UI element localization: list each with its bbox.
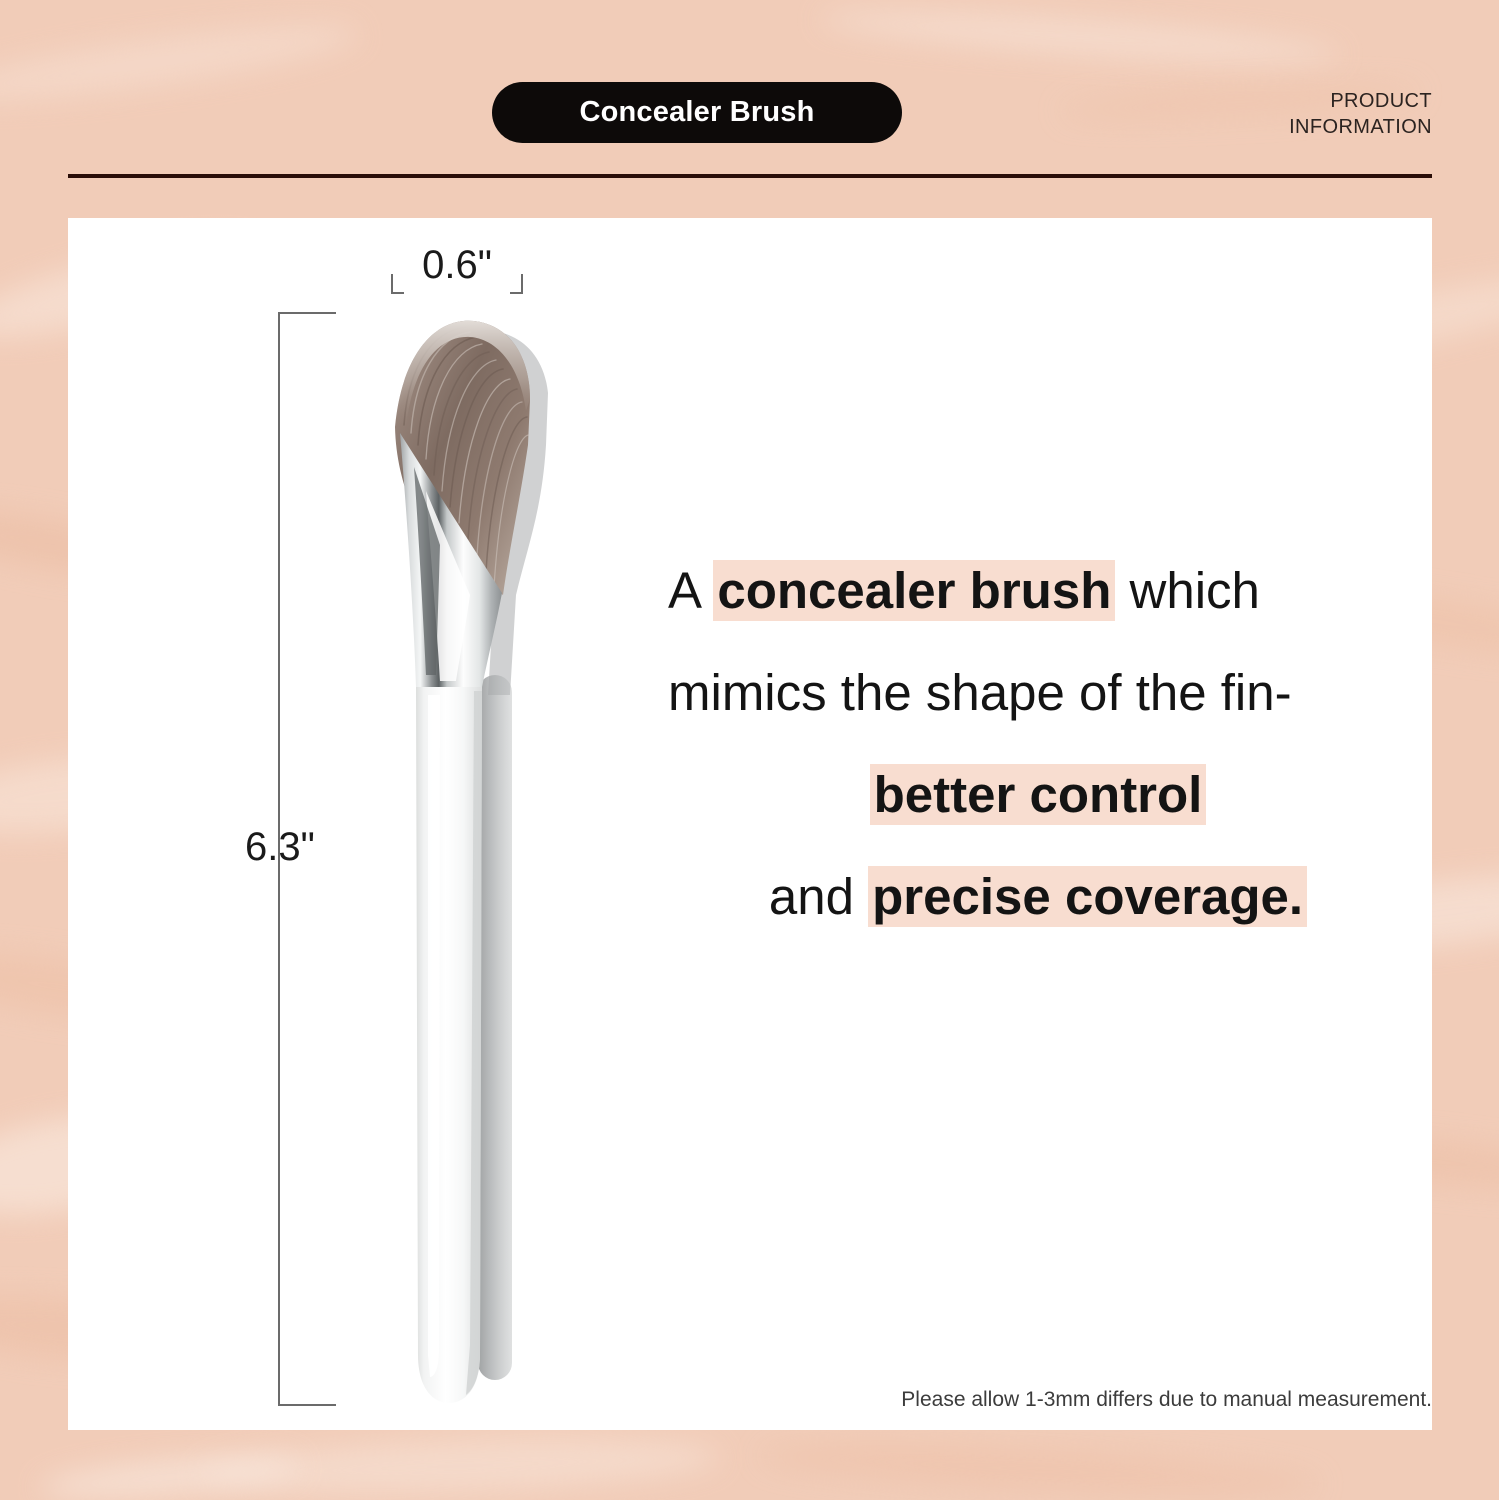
brush-handle-shadow	[478, 675, 512, 1380]
brush-handle-highlight	[428, 695, 440, 1377]
description-line-4: and precise coverage.	[668, 846, 1408, 948]
width-bracket-left-tick	[391, 274, 393, 294]
description-highlight-precise-coverage: precise coverage.	[868, 866, 1307, 927]
height-bracket-bottom-tick	[278, 1404, 336, 1406]
description-highlight-concealer-brush: concealer brush	[713, 560, 1115, 621]
description-line-1-prefix: A	[668, 562, 713, 619]
height-measurement-label: 6.3"	[245, 825, 315, 870]
description-line-3: better control	[668, 744, 1408, 846]
description-highlight-better-control: better control	[870, 764, 1207, 825]
product-description: A concealer brush which mimics the shape…	[668, 540, 1408, 948]
height-bracket-top-tick	[278, 312, 336, 314]
description-line-1-suffix: which	[1115, 562, 1260, 619]
width-bracket-right-tick	[521, 274, 523, 294]
eyebrow-line-2: INFORMATION	[1192, 114, 1432, 140]
description-line-2: mimics the shape of the fin-	[668, 642, 1408, 744]
page-title: Concealer Brush	[579, 96, 814, 129]
header-divider	[68, 174, 1432, 178]
eyebrow-line-1: PRODUCT	[1192, 88, 1432, 114]
description-line-1: A concealer brush which	[668, 540, 1408, 642]
description-line-4-prefix: and	[769, 868, 868, 925]
width-dimension-bracket	[382, 248, 532, 294]
page-title-badge: Concealer Brush	[492, 82, 902, 143]
measurement-disclaimer: Please allow 1-3mm differs due to manual…	[901, 1388, 1432, 1412]
eyebrow-label: PRODUCT INFORMATION	[1192, 88, 1432, 140]
page-header: Concealer Brush PRODUCT INFORMATION	[0, 0, 1499, 178]
concealer-brush-image	[370, 295, 600, 1435]
